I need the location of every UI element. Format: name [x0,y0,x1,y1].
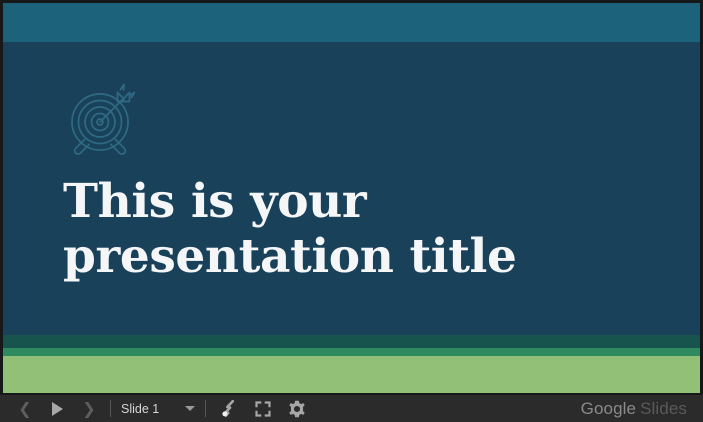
slide-selector-label: Slide 1 [121,402,159,416]
previous-slide-button[interactable]: ❮ [10,395,40,422]
fullscreen-button[interactable] [246,395,280,422]
decor-band-light-green [3,356,700,393]
toolbar-divider-right [205,400,206,417]
chevron-down-icon [185,406,195,411]
presentation-toolbar: ❮ ❯ Slide 1 [0,395,703,422]
settings-button[interactable] [280,395,314,422]
slide-selector-dropdown[interactable]: Slide 1 [117,402,199,416]
gear-icon [288,400,306,418]
laser-pointer-icon [221,400,238,417]
google-slides-brand: GoogleSlides [581,399,693,419]
slide-title: This is your presentation title [63,174,583,284]
decor-band-mid-green [3,348,700,356]
fullscreen-brackets-icon [255,401,271,417]
next-slide-button[interactable]: ❯ [74,395,104,422]
toolbar-divider-left [110,400,111,417]
chevron-left-icon: ❮ [18,401,31,417]
laser-pointer-button[interactable] [212,395,246,422]
slides-viewer-window: This is your presentation title ❮ ❯ Slid… [0,0,703,422]
slide-stage: This is your presentation title [0,0,703,395]
brand-slides-text: Slides [640,399,687,418]
play-presentation-button[interactable] [40,395,74,422]
decor-band-dark-green [3,335,700,348]
decor-band-teal-top [3,3,700,42]
chevron-right-icon: ❯ [82,401,95,417]
slide-canvas[interactable]: This is your presentation title [3,3,700,393]
target-dartboard-arrow-icon [61,83,139,161]
play-triangle-icon [52,402,63,416]
brand-google-text: Google [581,399,636,418]
